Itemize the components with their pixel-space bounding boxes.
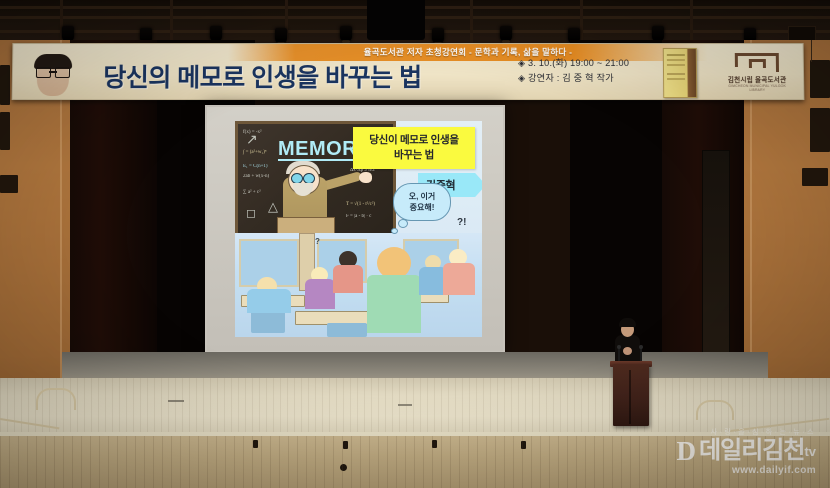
ceiling-projector [367,0,425,40]
question-mark-text: ? [315,237,320,246]
callout-line-1: 당신이 메모로 인생을 [369,133,458,148]
chalk-formula: ∑ a² + c² [243,190,261,196]
banner-speaker: ◈ 강연자 : 김 중 혁 작가 [518,71,629,86]
student-body [247,289,291,313]
watermark-logo-letter: D [677,438,697,464]
library-mark-icon [735,53,779,72]
presentation-slide: MEMORY f(x) = -x² ∫ = (a²+w₁)ⁿ E₁ = C(n+… [235,121,482,337]
watermark-url: www.dailyif.com [677,465,816,476]
apron-fixture [521,441,526,449]
presenter-hands [623,347,632,355]
stage-light-icon [210,26,222,41]
bubble-line-2: 중요해! [409,202,436,213]
slide-classroom: Z z z ? [235,233,482,337]
library-name: 김천시립 율곡도서관 [720,74,794,84]
hanging-wire [811,40,813,62]
floor-marker [398,404,412,406]
auditorium-photo: 율곡도서관 저자 초청강연회 - 문학과 기록, 삶을 말하다 - 당신의 메모… [0,0,830,488]
speaker-column-right [702,150,730,367]
banner-event-info: ◈ 3. 10.(화) 19:00 ~ 21:00 ◈ 강연자 : 김 중 혁 … [518,56,629,86]
blackboard-title-underline [278,159,362,161]
professor-pointing-hand [359,172,372,183]
thought-bubble: 오, 이거 중요해! [393,183,451,221]
apron-fixture [340,464,347,471]
student-body-main [367,275,421,333]
watermark-tagline: 사·랑·을·심·하·는·뉴·스 [677,427,816,437]
student-body [443,263,475,295]
stage-railing-left [36,388,76,410]
apron-fixture [432,440,437,448]
acoustic-panel [810,60,830,98]
apron-fixture [253,440,258,448]
chalk-formula: 2ab + w(x-n) [243,174,269,180]
acoustic-panel [810,108,830,152]
callout-line-2: 바꾸는 법 [369,148,458,163]
acoustic-panel [0,175,18,193]
student-body [305,279,335,309]
podium-center-line [629,370,631,424]
glasses-icon [36,67,70,76]
stage-light-icon [340,26,352,41]
speaker-portrait-photo [29,54,78,96]
presenter-hair [619,318,636,327]
library-logo: 김천시립 율곡도서관 GIMCHEON MUNICIPAL YULGOK LIB… [720,53,794,92]
chalk-formula: T = √(1 - t²/c²) [346,202,375,208]
stage-light-icon [275,28,287,43]
stage-light-icon [432,28,444,43]
stage-railing-right [696,400,734,420]
acoustic-panel [0,65,10,105]
banner-datetime: ◈ 3. 10.(화) 19:00 ~ 21:00 [518,56,629,71]
screen-surface: MEMORY f(x) = -x² ∫ = (a²+w₁)ⁿ E₁ = C(n+… [207,107,503,351]
presenter [612,318,642,366]
acoustic-panel [802,168,828,186]
apron-fixture [343,441,348,449]
chalk-formula: F = |a - b| · c [346,214,371,220]
classroom-chair [327,323,367,337]
student-body [333,265,363,293]
watermark-brand: D 데일리김천 tv [677,438,816,464]
chalk-formula: E₁ = C(n+1) [243,164,268,170]
exclaim-text: ?! [457,217,466,228]
slide-title-callout: 당신이 메모로 인생을 바꾸는 법 [353,127,475,169]
ceiling-beam [470,0,473,46]
chalk-formula: ∫ = (a²+w₁)ⁿ [243,150,267,156]
watermark-brand-tv: tv [804,444,816,459]
banner-main-title: 당신의 메모로 인생을 바꾸는 법 [85,58,440,94]
library-name-en: GIMCHEON MUNICIPAL YULGOK LIBRARY [720,84,794,92]
stage-light-icon [500,26,512,41]
bubble-line-1: 오, 이거 [409,191,436,202]
watermark-brand-kr: 데일리김천 [699,438,804,464]
acoustic-panel [0,112,10,150]
stage-light-icon [652,26,664,41]
projection-screen: MEMORY f(x) = -x² ∫ = (a²+w₁)ⁿ E₁ = C(n+… [205,105,505,353]
event-banner: 율곡도서관 저자 초청강연회 - 문학과 기록, 삶을 말하다 - 당신의 메모… [12,43,805,100]
floor-marker [168,400,184,402]
stage-light-icon [62,26,74,41]
podium [613,364,649,426]
watermark: 사·랑·을·심·하·는·뉴·스 D 데일리김천 tv www.dailyif.c… [677,427,816,476]
book-cover-image [663,48,697,98]
